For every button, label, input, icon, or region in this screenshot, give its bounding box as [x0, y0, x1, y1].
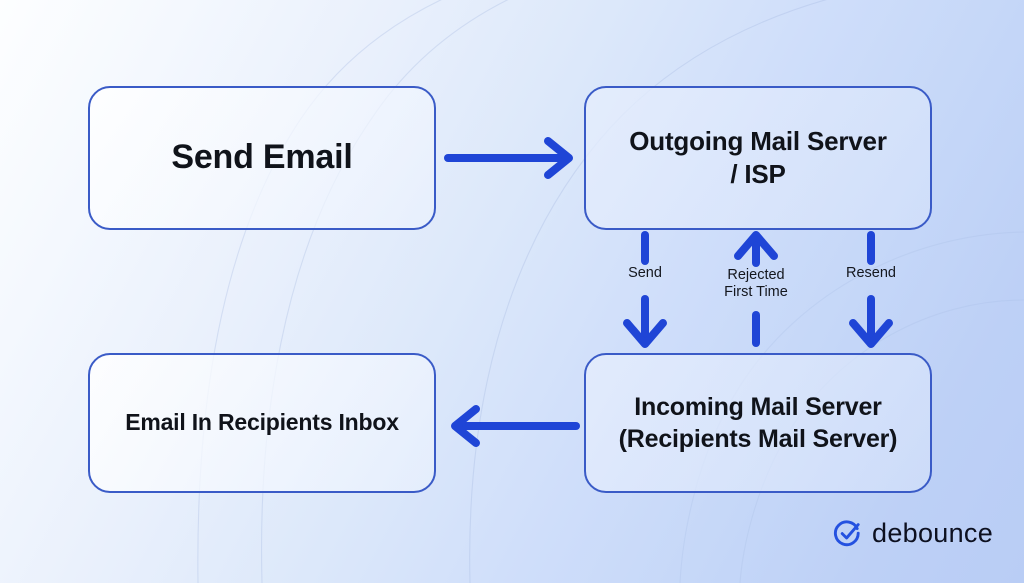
node-incoming-mail-server[interactable]: Incoming Mail Server (Recipients Mail Se…: [584, 353, 932, 493]
node-inbox-label: Email In Recipients Inbox: [125, 408, 399, 437]
arrow-rejected-label-line-1: Rejected: [727, 267, 784, 283]
arrow-rejected-label-line-2: First Time: [724, 284, 788, 300]
arrow-resend-label: Resend: [846, 265, 896, 282]
arrow-rejected-first-time: Rejected First Time: [700, 231, 812, 349]
arrow-resend-glyph: [836, 231, 906, 349]
arrow-send-glyph: [614, 231, 676, 349]
diagram-canvas: Send Email Outgoing Mail Server / ISP Em…: [0, 0, 1024, 583]
node-incoming-mail-server-label: Incoming Mail Server (Recipients Mail Se…: [619, 391, 898, 455]
arrow-send: Send: [614, 231, 676, 349]
node-email-in-recipients-inbox[interactable]: Email In Recipients Inbox: [88, 353, 436, 493]
node-outgoing-line-2: / ISP: [730, 159, 785, 189]
node-send-email-label: Send Email: [171, 136, 352, 180]
node-outgoing-mail-server[interactable]: Outgoing Mail Server / ISP: [584, 86, 932, 230]
check-circle-icon: [833, 519, 863, 549]
arrow-rejected-label: Rejected First Time: [724, 267, 788, 301]
arrow-send-email-to-outgoing: [442, 136, 582, 180]
node-send-email[interactable]: Send Email: [88, 86, 436, 230]
arrow-send-label: Send: [628, 265, 662, 282]
debounce-wordmark: debounce: [872, 518, 993, 549]
debounce-logo[interactable]: debounce: [833, 518, 993, 549]
node-incoming-line-1: Incoming Mail Server: [634, 393, 881, 421]
node-outgoing-mail-server-label: Outgoing Mail Server / ISP: [629, 125, 887, 192]
arrow-incoming-to-inbox: [442, 403, 582, 449]
arrow-resend: Resend: [836, 231, 906, 349]
node-outgoing-line-1: Outgoing Mail Server: [629, 126, 887, 156]
node-incoming-line-2: (Recipients Mail Server): [619, 425, 898, 453]
